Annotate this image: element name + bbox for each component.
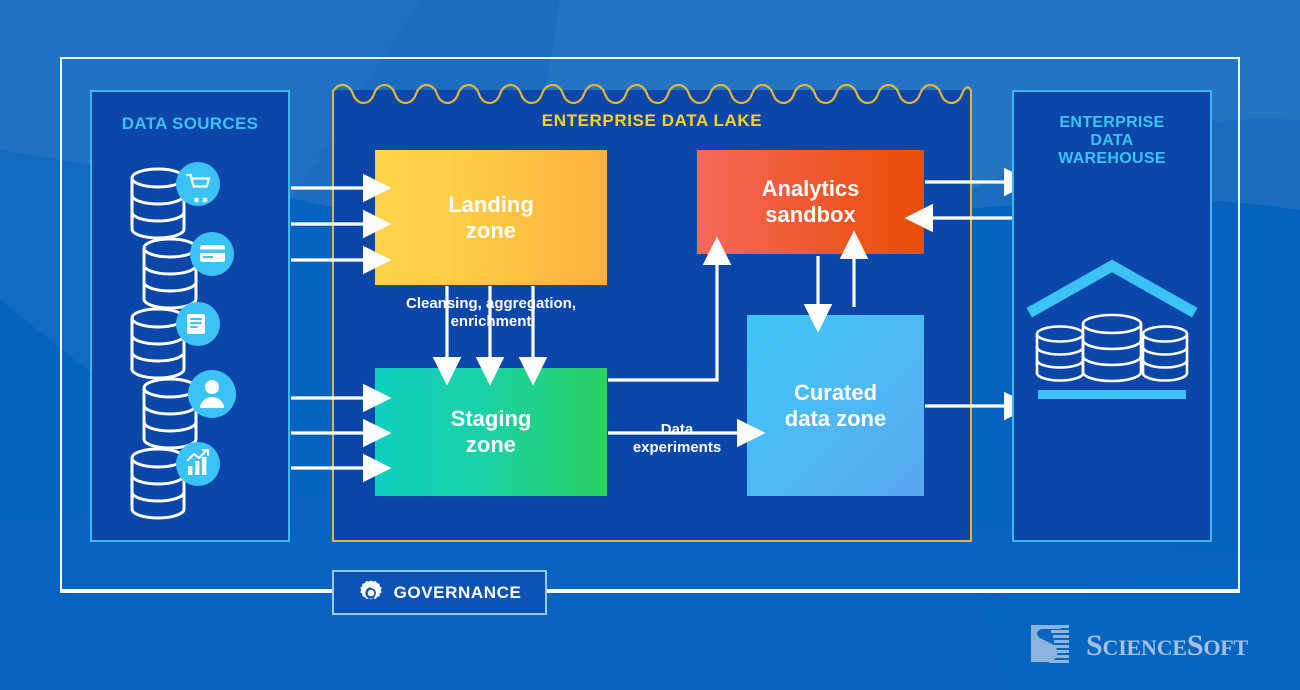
governance-label: GOVERNANCE [394, 583, 522, 603]
warehouse-title-line3: WAREHOUSE [1058, 150, 1166, 167]
sciencesoft-logo: SCIENCESOFT [1023, 618, 1281, 674]
logo-text-part1: S [1086, 629, 1103, 662]
data-warehouse-icon [1020, 250, 1204, 410]
logo-text-part4: OFT [1203, 635, 1248, 660]
warehouse-title-line1: ENTERPRISE [1059, 114, 1164, 131]
governance-box[interactable]: GOVERNANCE [332, 570, 547, 615]
logo-text-part2: CIENCE [1103, 635, 1187, 660]
warehouse-title-line2: DATA [1090, 132, 1133, 149]
gear-icon [358, 580, 384, 606]
sciencesoft-s-logo-icon [1023, 619, 1077, 673]
sciencesoft-wordmark: SCIENCESOFT [1086, 629, 1248, 663]
data-warehouse-title: ENTERPRISE DATA WAREHOUSE [1014, 114, 1210, 168]
diagram-canvas: DATA SOURCES [0, 0, 1300, 690]
logo-text-part3: S [1187, 629, 1204, 662]
arrow-staging-to-analytics [608, 262, 717, 380]
